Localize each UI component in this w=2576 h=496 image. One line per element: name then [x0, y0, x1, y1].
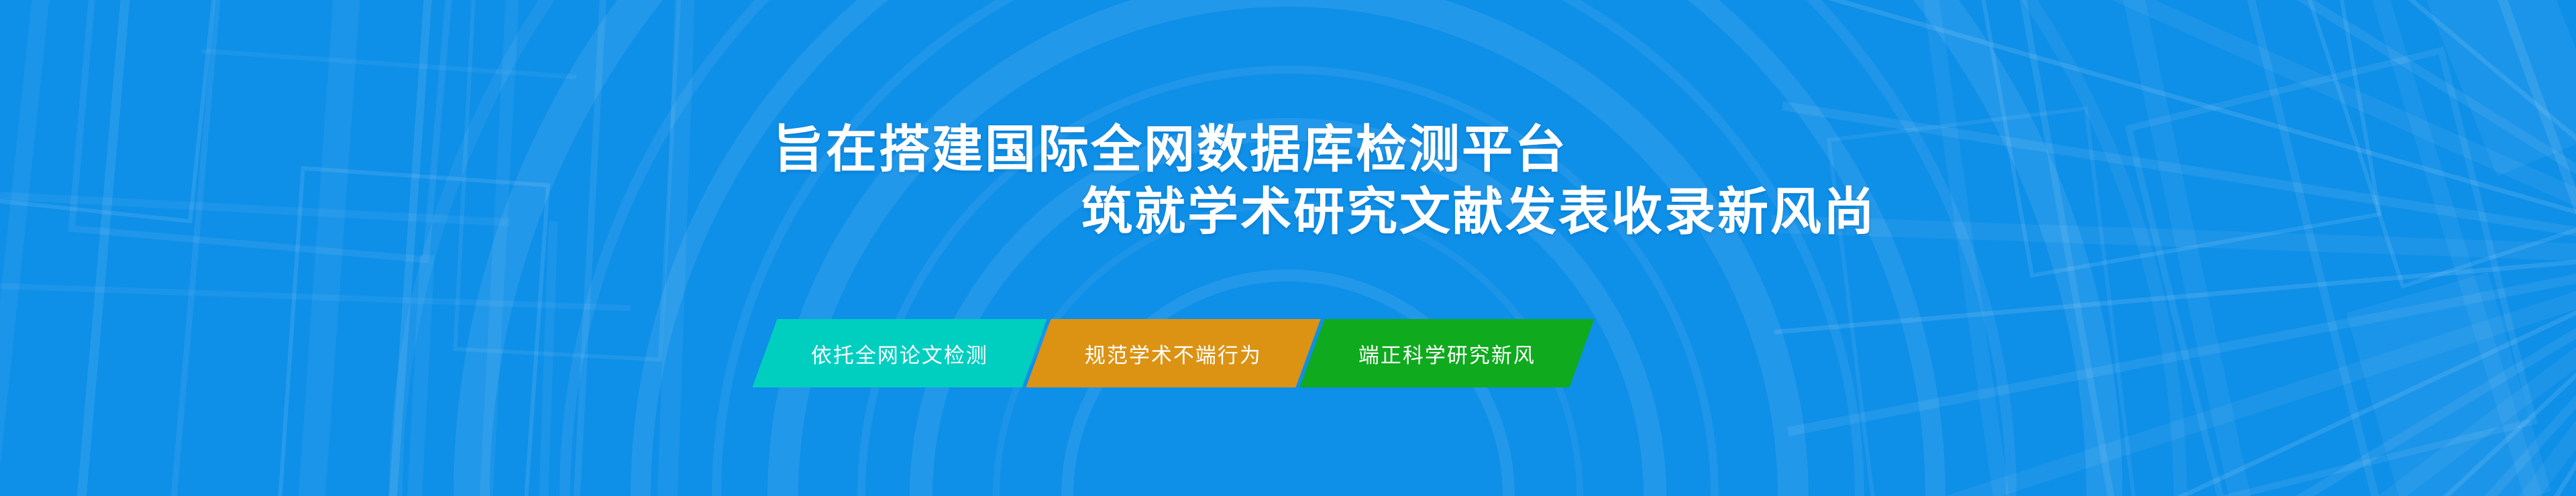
background-arc: [712, 0, 1864, 496]
background-stripe: [569, 0, 610, 496]
background-stripe: [2227, 0, 2398, 496]
background-frame: [2125, 46, 2538, 496]
background-fan-stripe: [2210, 249, 2576, 496]
background-stripe: [69, 0, 137, 496]
background-frame: [2346, 272, 2551, 496]
background-fan-stripe: [2078, 249, 2576, 496]
background-grid-line: [201, 48, 576, 79]
background-arc: [631, 0, 1945, 496]
background-frame: [405, 255, 435, 496]
background-fan-stripe: [1774, 248, 2576, 334]
background-frame: [538, 221, 557, 496]
feature-badge-group: 依托全网论文检测 规范学术不端行为 端正科学研究新风: [765, 319, 1582, 387]
background-fan-stripe: [2138, 251, 2576, 496]
background-stripe: [292, 0, 366, 496]
background-arc: [767, 0, 1809, 496]
feature-badge-label: 端正科学研究新风: [1358, 338, 1536, 369]
feature-badge-label: 规范学术不端行为: [1085, 338, 1262, 369]
background-stripe: [2469, 0, 2576, 496]
background-stripe: [1912, 0, 2021, 496]
headline-line-1: 旨在搭建国际全网数据库检测平台: [0, 119, 2576, 182]
background-stripe: [163, 0, 227, 496]
background-decoration: [0, 0, 2576, 496]
background-stripe: [2006, 0, 2129, 496]
feature-badge-plagiarism-detection[interactable]: 依托全网论文检测: [752, 319, 1046, 387]
background-stripe: [2106, 0, 2267, 496]
background-stripe: [2349, 0, 2561, 496]
background-fan-stripe: [1787, 248, 2576, 436]
background-grid-line: [0, 282, 631, 311]
feature-badge-label: 依托全网论文检测: [811, 338, 988, 369]
background-stripe: [0, 0, 58, 496]
background-stripe: [475, 0, 523, 496]
background-fan-stripe: [1858, 248, 2576, 496]
background-fan-stripe: [2022, 249, 2576, 496]
background-fan-stripe: [1902, 249, 2576, 496]
feature-badge-academic-misconduct[interactable]: 规范学术不端行为: [1026, 319, 1320, 387]
background-arc: [559, 0, 2017, 496]
headline-block: 旨在搭建国际全网数据库检测平台 筑就学术研究文献发表收录新风尚: [0, 119, 2576, 243]
headline-line-2: 筑就学术研究文献发表收录新风尚: [0, 182, 2576, 244]
feature-badge-research-ethics[interactable]: 端正科学研究新风: [1299, 319, 1594, 387]
background-stripe: [382, 0, 437, 496]
background-stripe: [654, 0, 698, 496]
promo-banner: 旨在搭建国际全网数据库检测平台 筑就学术研究文献发表收录新风尚 依托全网论文检测…: [0, 0, 2576, 496]
background-fan-stripe: [1815, 249, 2576, 496]
background-fan-stripe: [2265, 251, 2576, 496]
background-fan-stripe: [1955, 250, 2576, 496]
background-arc: [389, 0, 2187, 496]
background-arc: [453, 0, 2123, 496]
